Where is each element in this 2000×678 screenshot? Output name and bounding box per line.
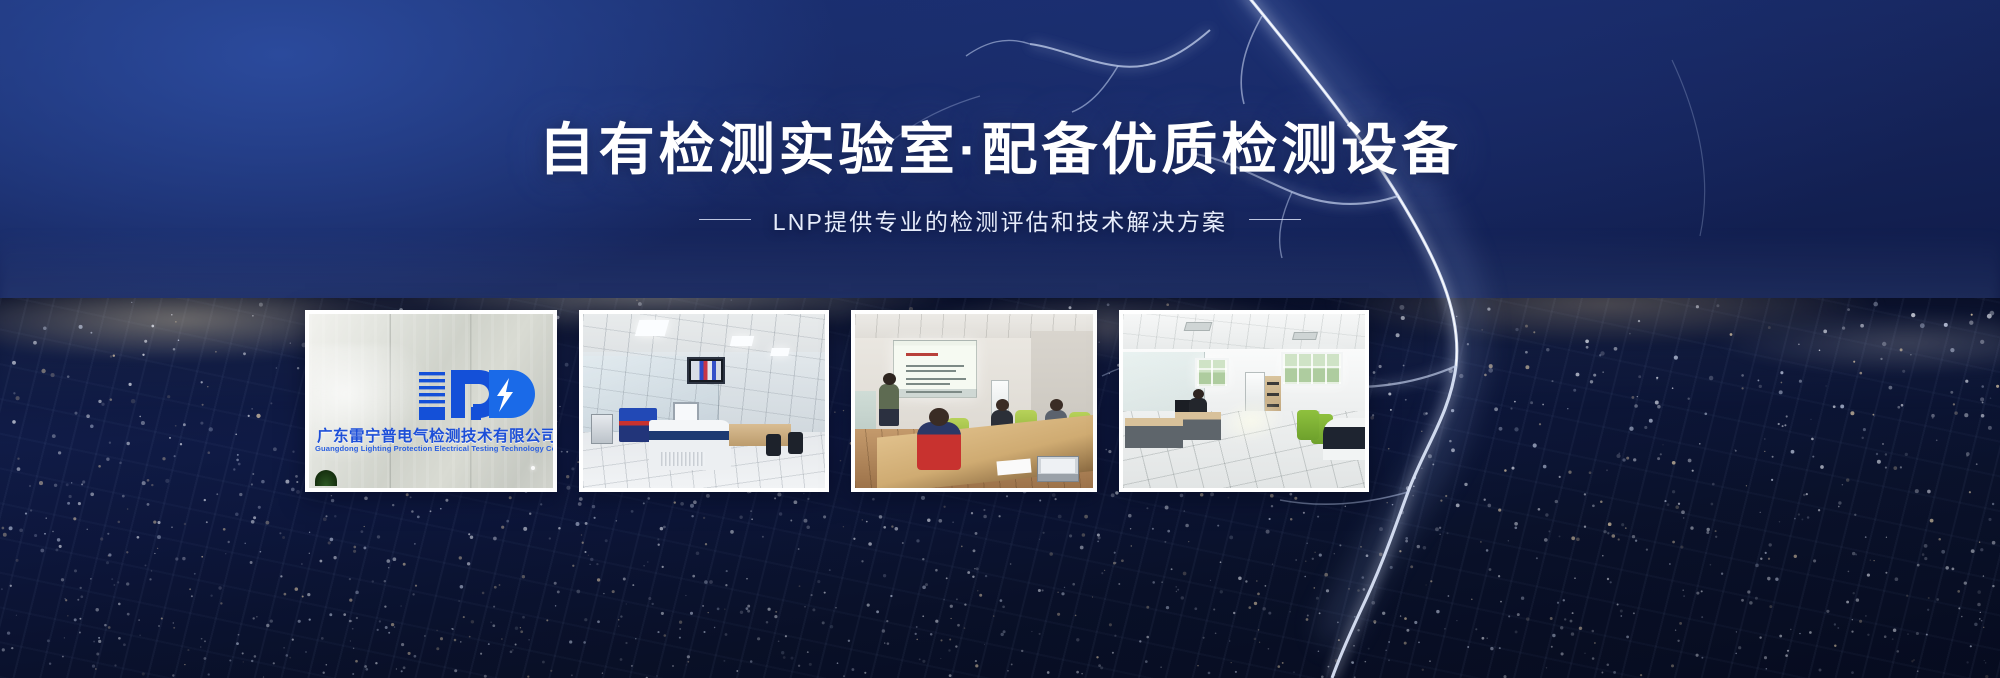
ceiling-light-2 <box>730 336 754 346</box>
wall-display-icon <box>687 357 725 384</box>
window-left <box>1195 358 1229 388</box>
ceiling-vent-2 <box>1292 332 1318 340</box>
lab-monitor <box>673 402 699 422</box>
lnp-logo-icon <box>417 368 537 420</box>
wall-light-spot <box>531 466 535 470</box>
signage-chinese-text: 广东雷宁普电气检测技术有限公司 <box>317 424 547 446</box>
slide-line-5 <box>906 391 962 393</box>
page-subtitle: LNP提供专业的检测评估和技术解决方案 <box>773 203 1228 237</box>
rule-left-icon <box>699 219 751 220</box>
hero-banner: 自有检测实验室·配备优质检测设备 LNP提供专业的检测评估和技术解决方案 <box>0 0 2000 678</box>
plant-decor <box>315 470 337 486</box>
gallery-item-lnp-signage[interactable]: 广东雷宁普电气检测技术有限公司 Guangdong Lighting Prote… <box>305 310 557 492</box>
ceiling-light-1 <box>635 320 670 336</box>
office-desk-1 <box>1125 418 1183 448</box>
lab-chair-2 <box>766 434 781 456</box>
presenter-person <box>879 384 899 426</box>
slide-line-4 <box>906 383 950 385</box>
gallery-item-office-area[interactable] <box>1119 310 1369 492</box>
lab-control-console <box>649 420 731 470</box>
laptop-icon <box>1037 456 1079 482</box>
attendee-person-red <box>917 422 961 470</box>
lab-cabinet <box>591 414 613 444</box>
reception-counter <box>1323 418 1365 460</box>
gallery-item-training-meeting[interactable] <box>851 310 1097 492</box>
office-chair-1 <box>1297 410 1319 440</box>
hero-text-block: 自有检测实验室·配备优质检测设备 LNP提供专业的检测评估和技术解决方案 <box>0 118 2000 237</box>
slide-line-2 <box>906 370 956 372</box>
slide-title-line <box>906 353 938 356</box>
lab-chair-1 <box>788 432 803 454</box>
ceiling-light-3 <box>770 348 790 356</box>
subtitle-row: LNP提供专业的检测评估和技术解决方案 <box>0 203 2000 237</box>
slide-line-1 <box>906 365 964 367</box>
page-title: 自有检测实验室·配备优质检测设备 <box>0 118 2000 183</box>
ceiling-vent-1 <box>1184 322 1213 331</box>
projection-screen <box>893 340 977 398</box>
gallery-item-testing-laboratory[interactable] <box>579 310 829 492</box>
photo-gallery: 广东雷宁普电气检测技术有限公司 Guangdong Lighting Prote… <box>305 310 1369 492</box>
rule-right-icon <box>1249 219 1301 220</box>
window-right <box>1281 352 1343 386</box>
meeting-documents <box>996 459 1031 476</box>
signage-english-text: Guangdong Lighting Protection Electrical… <box>315 444 549 453</box>
slide-line-3 <box>906 378 966 380</box>
lab-work-desk <box>729 424 791 446</box>
